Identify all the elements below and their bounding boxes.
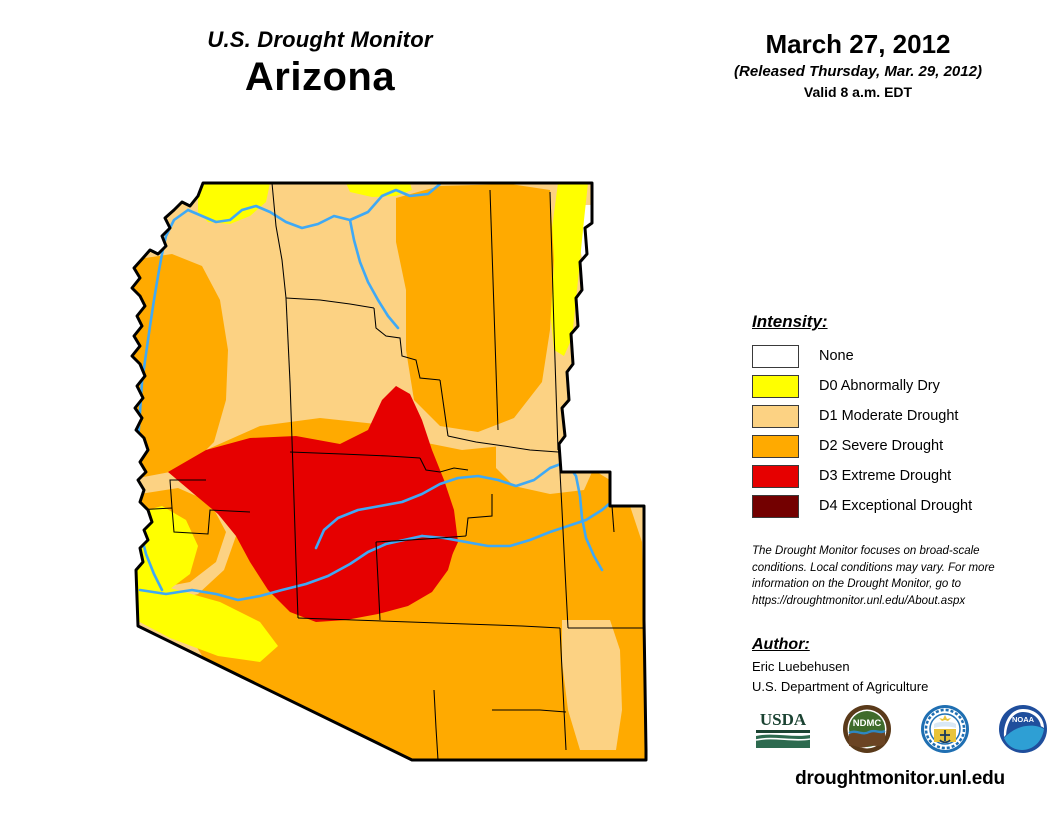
legend-swatch-d4 xyxy=(752,495,799,518)
legend-item-d4: D4 Exceptional Drought xyxy=(752,491,1048,521)
usda-logo: USDA xyxy=(752,708,814,755)
ndmc-logo: NDMC xyxy=(842,704,892,759)
legend-swatch-d1 xyxy=(752,405,799,428)
footer-url[interactable]: droughtmonitor.unl.edu xyxy=(752,768,1048,790)
arizona-drought-map xyxy=(110,150,690,790)
legend-label-d3: D3 Extreme Drought xyxy=(819,468,951,484)
legend-item-d2: D2 Severe Drought xyxy=(752,431,1048,461)
legend-swatch-d3 xyxy=(752,465,799,488)
county-line-19 xyxy=(558,452,610,456)
drought-regions xyxy=(110,150,690,790)
legend-swatch-d2 xyxy=(752,435,799,458)
header-left: U.S. Drought Monitor Arizona xyxy=(0,28,640,100)
legend-label-d4: D4 Exceptional Drought xyxy=(819,498,972,514)
state-title: Arizona xyxy=(0,54,640,100)
legend-label-none: None xyxy=(819,348,854,364)
header-right: March 27, 2012 (Released Thursday, Mar. … xyxy=(660,30,1056,100)
author-heading: Author: xyxy=(752,636,1048,654)
author-name: Eric Luebehusen xyxy=(752,659,1048,674)
region-d2-northeast xyxy=(396,184,554,432)
release-date: (Released Thursday, Mar. 29, 2012) xyxy=(660,63,1056,80)
legend-label-d2: D2 Severe Drought xyxy=(819,438,943,454)
region-d0-east-strip xyxy=(550,183,588,356)
legend-swatch-none xyxy=(752,345,799,368)
usdc-noaa-seal-logo xyxy=(920,704,970,759)
agency-logos: USDA NDMC xyxy=(752,702,1048,760)
program-title: U.S. Drought Monitor xyxy=(0,28,640,52)
author-affiliation: U.S. Department of Agriculture xyxy=(752,679,1048,694)
svg-text:NDMC: NDMC xyxy=(853,718,882,729)
legend-swatch-d0 xyxy=(752,375,799,398)
svg-text:USDA: USDA xyxy=(760,710,807,729)
svg-text:NOAA: NOAA xyxy=(1012,715,1035,724)
legend-label-d0: D0 Abnormally Dry xyxy=(819,378,940,394)
legend-heading: Intensity: xyxy=(752,312,1048,332)
disclaimer-text: The Drought Monitor focuses on broad-sca… xyxy=(752,543,1022,610)
drought-monitor-page: U.S. Drought Monitor Arizona March 27, 2… xyxy=(0,0,1056,816)
noaa-logo: NOAA xyxy=(998,704,1048,759)
legend-item-d0: D0 Abnormally Dry xyxy=(752,371,1048,401)
legend-label-d1: D1 Moderate Drought xyxy=(819,408,958,424)
valid-time: Valid 8 a.m. EDT xyxy=(660,84,1056,100)
legend-item-d3: D3 Extreme Drought xyxy=(752,461,1048,491)
legend-panel: Intensity: None D0 Abnormally Dry D1 Mod… xyxy=(752,312,1048,694)
legend-item-none: None xyxy=(752,341,1048,371)
legend-item-d1: D1 Moderate Drought xyxy=(752,401,1048,431)
map-date: March 27, 2012 xyxy=(660,30,1056,60)
